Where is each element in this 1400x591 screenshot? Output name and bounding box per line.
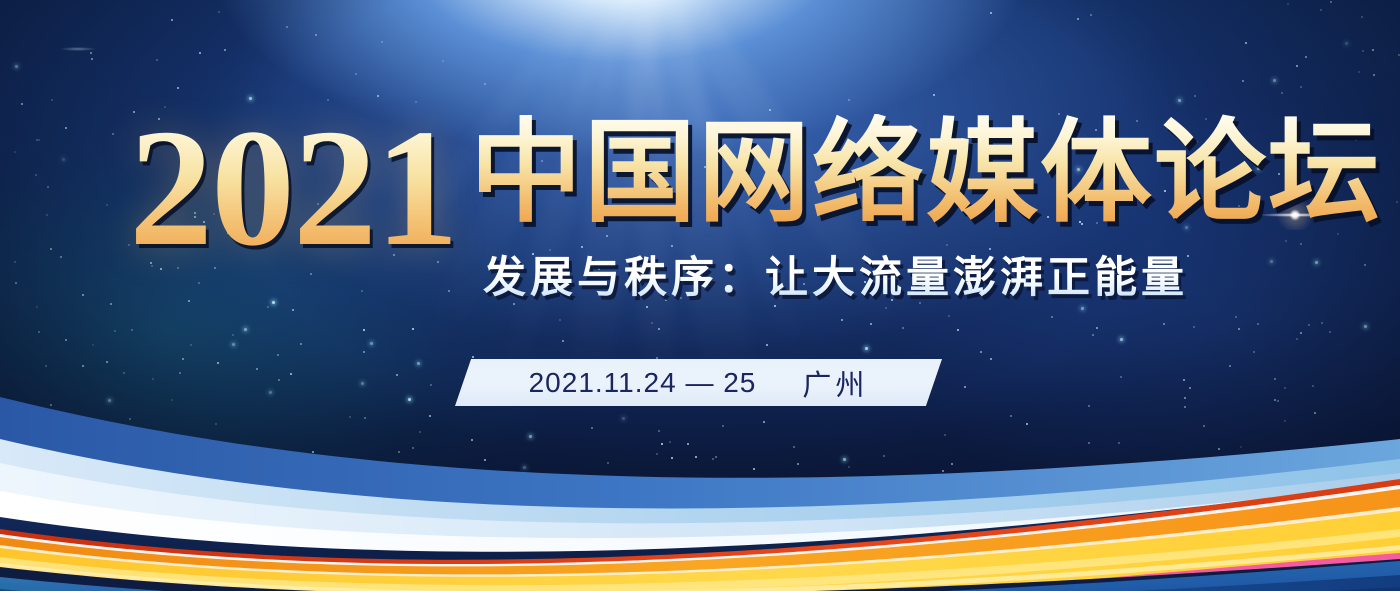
event-date: 2021.11.24 — 25 (529, 367, 757, 399)
subtitle: 发展与秩序：让大流量澎湃正能量 (483, 243, 1188, 305)
event-city: 广州 (802, 362, 868, 404)
page-title: 中国网络媒体论坛 (470, 114, 1382, 235)
event-banner: 2021 中国网络媒体论坛 发展与秩序：让大流量澎湃正能量 2021.11.24… (0, 0, 1400, 591)
date-venue-bar: 2021.11.24 — 25 广州 (455, 359, 942, 406)
year-heading: 2021 (129, 104, 457, 272)
